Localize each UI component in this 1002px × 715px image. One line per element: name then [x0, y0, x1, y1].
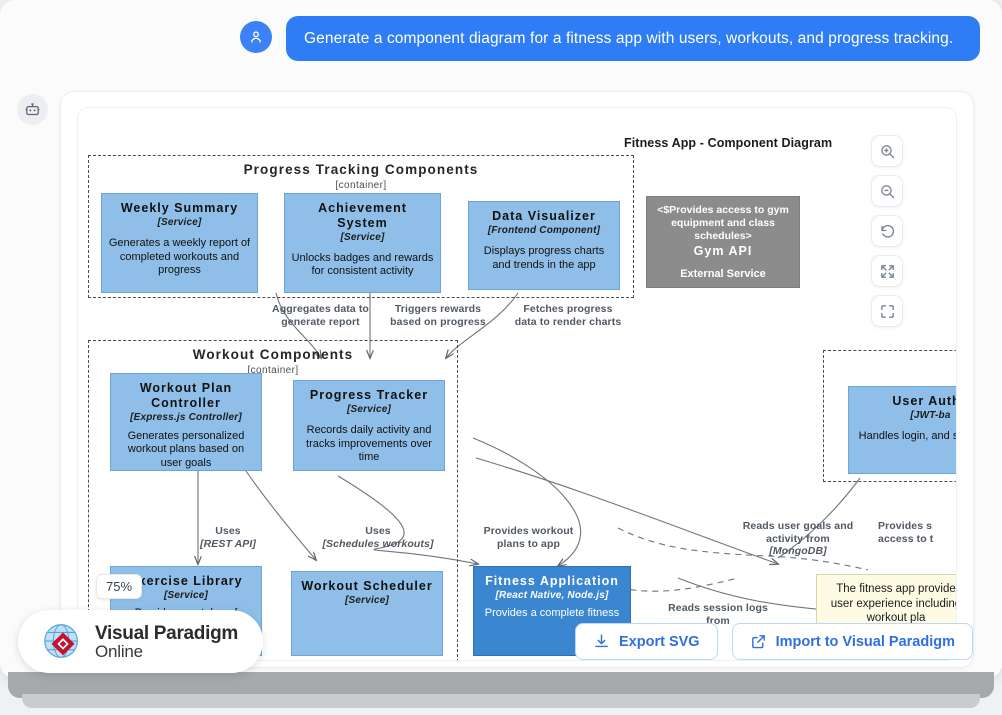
user-prompt-text: Generate a component diagram for a fitne… — [286, 16, 980, 61]
node-desc: Records daily activity and tracks improv… — [300, 424, 438, 465]
node-name: User Authe — [892, 394, 957, 409]
node-name: Exercise Library — [129, 574, 242, 589]
reset-button[interactable] — [871, 215, 903, 247]
footer-actions: Export SVG Import to Visual Paradigm — [575, 623, 973, 660]
edge-line1: Reads user goals and — [743, 520, 854, 532]
edge-line2: generate report — [281, 316, 360, 328]
import-to-vp-button[interactable]: Import to Visual Paradigm — [732, 623, 973, 660]
node-type: [React Native, Node.js] — [496, 590, 609, 601]
node-desc: Generates a weekly report of completed w… — [108, 237, 251, 278]
group-progress-label: Progress Tracking Components — [89, 162, 633, 177]
node-type: [Frontend Component] — [488, 225, 600, 236]
edge-label-provides-access: Provides s access to t — [878, 520, 957, 545]
canvas-toolbar — [871, 135, 903, 327]
edge-line2: based on progress — [390, 316, 486, 328]
user-avatar — [240, 21, 272, 53]
group-progress-sub: [container] — [89, 180, 633, 191]
node-name: Gym API — [694, 244, 753, 259]
node-name: Achievement System — [291, 201, 434, 231]
download-icon — [593, 633, 610, 650]
node-desc: Unlocks badges and rewards for consisten… — [291, 252, 434, 280]
node-desc: Displays progress charts and trends in t… — [475, 245, 613, 273]
node-desc: Generates personalized workout plans bas… — [117, 430, 255, 471]
zoom-level-badge[interactable]: 75% — [96, 574, 142, 599]
edge-label-aggregates: Aggregates data to generate report — [258, 303, 383, 328]
edge-label-triggers: Triggers rewards based on progress — [378, 303, 498, 328]
node-type: [Service] — [164, 590, 208, 601]
edge-line2: plans to app — [497, 538, 560, 550]
user-prompt-row: Generate a component diagram for a fitne… — [240, 16, 980, 72]
reset-icon — [879, 223, 896, 240]
page-shadow-lowest — [22, 694, 980, 708]
node-name: Workout Plan Controller — [117, 381, 255, 411]
node-type: [Service] — [157, 217, 201, 228]
zoom-out-button[interactable] — [871, 175, 903, 207]
edge-line1: Aggregates data to — [272, 303, 369, 315]
import-to-vp-label: Import to Visual Paradigm — [776, 634, 955, 650]
node-name: Workout Scheduler — [301, 579, 432, 594]
edge-line1: Provides workout — [484, 525, 574, 537]
node-name: Progress Tracker — [310, 388, 428, 403]
brand-line2: Online — [95, 643, 238, 660]
edge-line2: activity from — [766, 533, 830, 545]
edge-line1: Provides s — [878, 520, 932, 532]
zoom-in-button[interactable] — [871, 135, 903, 167]
edge-label-reads-goals: Reads user goals and activity from [Mong… — [723, 520, 873, 558]
fullscreen-icon — [879, 303, 896, 320]
fit-screen-button[interactable] — [871, 255, 903, 287]
visual-paradigm-logo-icon — [40, 619, 86, 665]
edge-line2: data to render charts — [515, 316, 622, 328]
assistant-avatar — [17, 94, 48, 125]
edge-label-uses-scheduler: Uses [Schedules workouts] — [313, 525, 443, 550]
edge-line1: Uses — [215, 525, 241, 537]
node-name: Weekly Summary — [121, 201, 238, 216]
edge-line1: Uses — [365, 525, 391, 537]
edge-label-uses-rest: Uses [REST API] — [183, 525, 273, 550]
fullscreen-button[interactable] — [871, 295, 903, 327]
node-stereotype: <$Provides access to gym equipment and c… — [653, 204, 793, 243]
node-workout-scheduler[interactable]: Workout Scheduler [Service] — [291, 571, 443, 656]
group-workout-label: Workout Components — [89, 347, 457, 362]
node-desc: Handles login, and session m — [859, 430, 957, 444]
brand-badge: Visual Paradigm Online — [18, 610, 263, 673]
node-name: Fitness Application — [485, 574, 619, 589]
node-desc: Provides a complete fitness — [485, 607, 620, 621]
fit-screen-icon — [879, 263, 896, 280]
node-workout-plan-controller[interactable]: Workout Plan Controller [Express.js Cont… — [110, 373, 262, 471]
edge-label-provides-plans: Provides workout plans to app — [466, 525, 591, 550]
node-achievement-system[interactable]: Achievement System [Service] Unlocks bad… — [284, 193, 441, 293]
edge-italic: [Schedules workouts] — [313, 538, 443, 551]
diagram-title: Fitness App - Component Diagram — [624, 136, 832, 150]
zoom-out-icon — [879, 183, 896, 200]
node-user-authentication[interactable]: User Authe [JWT-ba Handles login, and se… — [848, 386, 957, 474]
diagram-canvas-card: Fitness App - Component Diagram Progress… — [77, 107, 957, 661]
edge-label-fetches: Fetches progress data to render charts — [498, 303, 638, 328]
node-type: External Service — [680, 268, 766, 282]
node-type: [Service] — [347, 404, 391, 415]
export-svg-label: Export SVG — [619, 634, 700, 650]
node-type: [Express.js Controller] — [130, 412, 242, 423]
node-data-visualizer[interactable]: Data Visualizer [Frontend Component] Dis… — [468, 201, 620, 290]
edge-line1: Reads session logs — [668, 602, 768, 614]
edge-line1: Fetches progress — [523, 303, 612, 315]
node-weekly-summary[interactable]: Weekly Summary [Service] Generates a wee… — [101, 193, 258, 293]
edge-italic: [REST API] — [183, 538, 273, 551]
user-icon — [248, 29, 264, 45]
node-type: [Service] — [340, 232, 384, 243]
diagram-title-text: Fitness App - Component Diagram — [624, 136, 832, 150]
edge-line1: Triggers rewards — [395, 303, 481, 315]
node-type: [JWT-ba — [910, 410, 950, 421]
robot-icon — [24, 101, 41, 118]
node-type: [Service] — [345, 595, 389, 606]
export-svg-button[interactable]: Export SVG — [575, 623, 718, 660]
brand-line1: Visual Paradigm — [95, 624, 238, 643]
node-name: Data Visualizer — [492, 209, 596, 224]
node-gym-api[interactable]: <$Provides access to gym equipment and c… — [646, 196, 800, 288]
edge-italic: [MongoDB] — [723, 545, 873, 558]
node-progress-tracker[interactable]: Progress Tracker [Service] Records daily… — [293, 380, 445, 471]
diagram-stage[interactable]: Fitness App - Component Diagram Progress… — [78, 108, 957, 661]
external-link-icon — [750, 633, 767, 650]
edge-line2: access to t — [878, 533, 933, 545]
zoom-in-icon — [879, 143, 896, 160]
